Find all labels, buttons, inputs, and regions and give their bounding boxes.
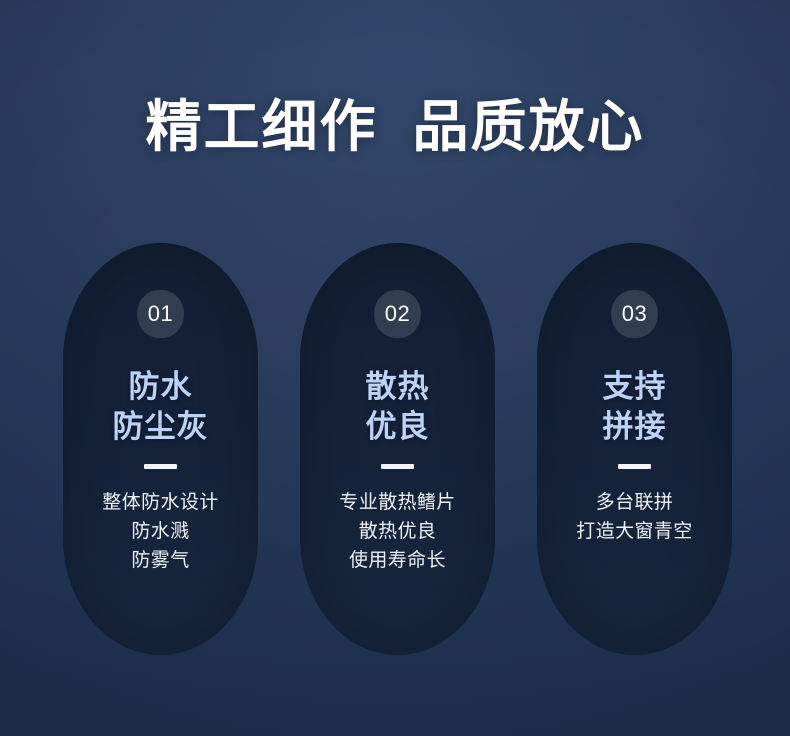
feature-card-03: 03 支持 拼接 多台联拼 打造大窗青空 <box>537 243 732 655</box>
feature-title: 散热 优良 <box>366 367 430 446</box>
feature-number-badge: 02 <box>374 290 421 338</box>
feature-card-02: 02 散热 优良 专业散热鳍片 散热优良 使用寿命长 <box>300 243 495 655</box>
divider <box>144 464 177 469</box>
feature-title: 防水 防尘灰 <box>113 367 209 446</box>
feature-card-01: 01 防水 防尘灰 整体防水设计 防水溅 防雾气 <box>63 243 258 655</box>
feature-title: 支持 拼接 <box>603 367 667 446</box>
divider <box>618 464 651 469</box>
page-title: 精工细作 品质放心 <box>0 96 790 159</box>
promo-poster: 精工细作 品质放心 01 防水 防尘灰 整体防水设计 防水溅 防雾气 02 散热… <box>0 0 790 736</box>
feature-description: 整体防水设计 防水溅 防雾气 <box>102 489 218 576</box>
feature-number-badge: 03 <box>611 290 658 338</box>
feature-description: 专业散热鳍片 散热优良 使用寿命长 <box>339 489 455 576</box>
feature-number-badge: 01 <box>137 290 184 338</box>
feature-card-list: 01 防水 防尘灰 整体防水设计 防水溅 防雾气 02 散热 优良 专业散热鳍片… <box>63 243 732 655</box>
feature-description: 多台联拼 打造大窗青空 <box>576 489 692 547</box>
divider <box>381 464 414 469</box>
